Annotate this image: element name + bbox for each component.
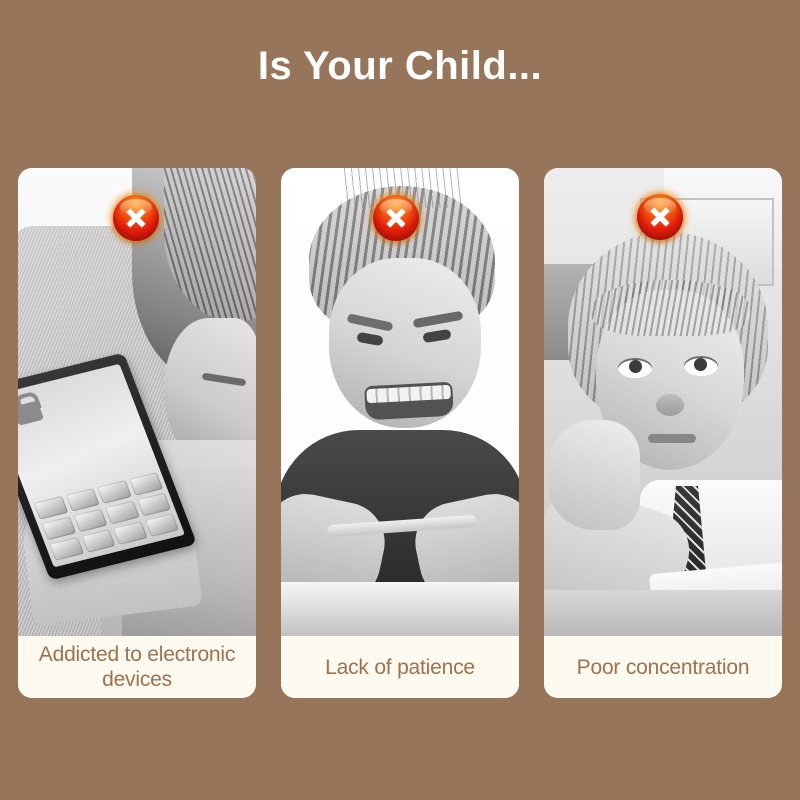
- red-x-cross-icon: [637, 194, 683, 240]
- child-grimacing-mouth-shape: [364, 382, 454, 421]
- app-icon: [137, 493, 171, 517]
- desk-surface-shape: [281, 582, 519, 636]
- tablet-app-grid: [33, 472, 178, 561]
- app-icon: [81, 529, 115, 553]
- lock-icon: [18, 401, 44, 426]
- child-eye-left-shape: [618, 358, 652, 378]
- app-icon: [145, 513, 179, 537]
- app-icon: [49, 537, 83, 561]
- red-x-cross-icon: [113, 195, 159, 241]
- app-icon: [97, 480, 131, 504]
- red-x-cross-icon: [373, 195, 419, 241]
- child-hair-shape: [164, 168, 256, 322]
- desk-surface-shape: [544, 590, 782, 636]
- page-title: Is Your Child...: [0, 42, 800, 90]
- child-teeth-shape: [366, 385, 451, 403]
- app-icon: [129, 472, 163, 496]
- child-fist-shape: [548, 420, 640, 530]
- app-icon: [65, 488, 99, 512]
- problem-card-lack-of-patience[interactable]: Lack of patience: [281, 168, 519, 698]
- promo-poster: Is Your Child...: [0, 0, 800, 800]
- card-caption: Addicted to electronic devices: [18, 636, 256, 698]
- app-icon: [33, 496, 67, 520]
- child-nose-shape: [656, 394, 684, 416]
- app-icon: [41, 516, 75, 540]
- problem-card-list: Addicted to electronic devices: [18, 168, 782, 698]
- app-icon: [105, 501, 139, 525]
- child-eye-right-shape: [684, 356, 718, 376]
- child-mouth-shape: [648, 434, 696, 443]
- app-icon: [73, 509, 107, 533]
- child-fringe-shape: [592, 280, 750, 336]
- problem-card-addicted-to-electronic-devices[interactable]: Addicted to electronic devices: [18, 168, 256, 698]
- problem-card-poor-concentration[interactable]: Poor concentration: [544, 168, 782, 698]
- app-icon: [113, 521, 147, 545]
- card-caption: Lack of patience: [281, 636, 519, 698]
- card-caption: Poor concentration: [544, 636, 782, 698]
